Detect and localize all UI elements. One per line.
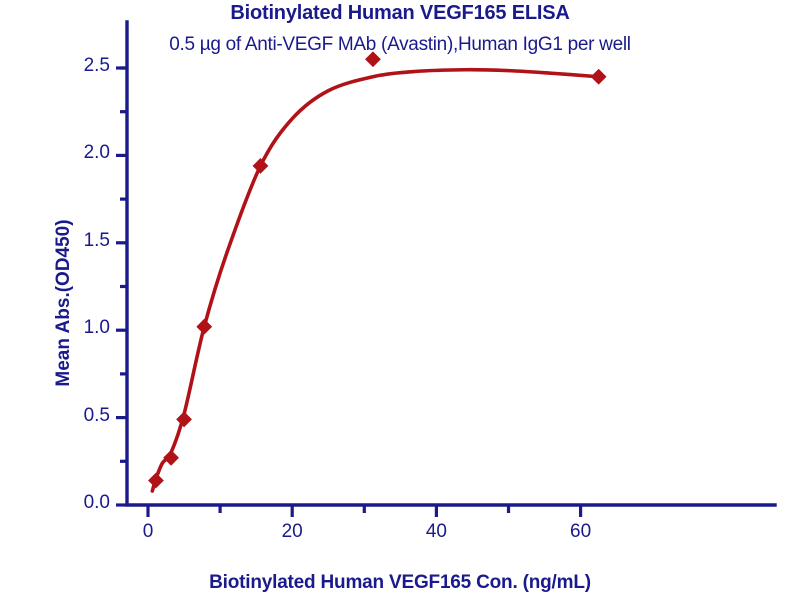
data-point-marker — [197, 320, 211, 334]
x-axis-tick-label: 60 — [541, 521, 621, 543]
plot-area — [0, 0, 800, 600]
chart-figure: Biotinylated Human VEGF165 ELISA 0.5 µg … — [0, 0, 800, 600]
data-point-marker — [366, 52, 380, 66]
x-axis-tick-label: 0 — [108, 521, 188, 543]
fit-curve — [152, 70, 598, 491]
y-axis-tick-label: 1.5 — [60, 230, 110, 252]
x-axis-tick-label: 40 — [396, 521, 476, 543]
y-axis-tick-label: 0.0 — [60, 492, 110, 514]
data-point-marker — [253, 159, 267, 173]
data-point-marker — [591, 70, 605, 84]
x-axis-tick-label: 20 — [252, 521, 332, 543]
y-axis-tick-label: 0.5 — [60, 405, 110, 427]
y-axis-tick-label: 2.0 — [60, 142, 110, 164]
data-point-marker — [177, 412, 191, 426]
y-axis-tick-label: 2.5 — [60, 55, 110, 77]
data-point-marker — [149, 473, 163, 487]
y-axis-tick-label: 1.0 — [60, 317, 110, 339]
data-point-marker — [164, 451, 178, 465]
